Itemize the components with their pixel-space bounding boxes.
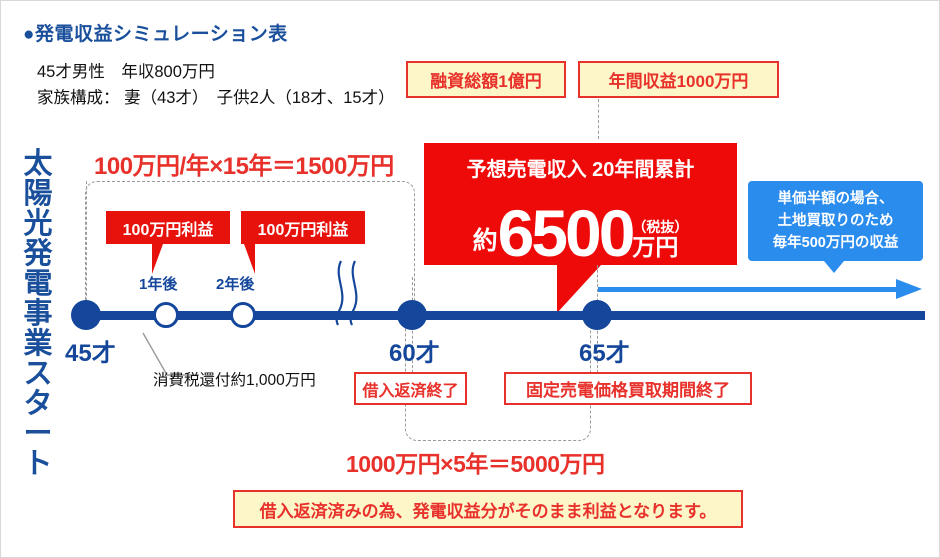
- vertical-char: 光: [15, 209, 61, 239]
- arrow-right-icon: [896, 279, 922, 299]
- revenue-suffix: （税抜） 万円: [632, 220, 688, 261]
- timeline-label-age60: 60才: [389, 333, 440, 368]
- timeline-label-year1: 1年後: [139, 273, 177, 294]
- approx-prefix: 約: [473, 229, 498, 261]
- annual-profit-badge: 年間収益1000万円: [578, 61, 779, 98]
- blue-line-1: 単価半額の場合、: [778, 188, 894, 210]
- timeline-axis: [73, 311, 925, 320]
- profile-line-2: 家族構成： 妻（43才） 子供2人（18才、15才）: [37, 85, 395, 111]
- vertical-char: 業: [15, 329, 61, 359]
- revenue-number: 6500: [498, 205, 633, 261]
- total-revenue-title: 予想売電収入 20年間累計: [424, 153, 737, 182]
- profit-balloon-year1: 100万円利益: [106, 211, 230, 244]
- vertical-char: ト: [15, 449, 61, 479]
- fit-period-end-badge: 固定売電価格買取期間終了: [504, 372, 752, 405]
- drop-line-45: [86, 181, 87, 301]
- profile-info: 45才男性 年収800万円 家族構成： 妻（43才） 子供2人（18才、15才）: [37, 59, 395, 111]
- blue-callout-tail-icon: [824, 261, 844, 273]
- blue-line-3: 毎年500万円の収益: [773, 232, 899, 254]
- vertical-char: 発: [15, 239, 61, 269]
- tax-refund-label: 消費税還付約1,000万円: [153, 368, 316, 390]
- page-title: ●発電収益シミュレーション表: [23, 19, 288, 46]
- loan-total-badge: 融資総額1億円: [406, 61, 566, 98]
- formula-15-years: 100万円/年×15年＝1500万円: [94, 146, 394, 181]
- vertical-start-label: 太 陽 光 発 電 事 業 ス タ ー ト: [15, 149, 61, 479]
- timeline-label-year2: 2年後: [216, 273, 254, 294]
- timeline-label-age65: 65才: [579, 333, 630, 368]
- total-revenue-callout: 予想売電収入 20年間累計 約 6500 （税抜） 万円: [424, 143, 737, 265]
- post-fit-revenue-callout: 単価半額の場合、 土地買取りのため 毎年500万円の収益: [748, 181, 923, 261]
- revenue-unit: 万円: [632, 235, 678, 259]
- total-revenue-amount: 約 6500 （税抜） 万円: [424, 205, 737, 261]
- profile-line-1: 45才男性 年収800万円: [37, 59, 395, 85]
- timeline-node-age65: [582, 300, 612, 330]
- balloon-tail-icon: [152, 244, 163, 274]
- post-fit-arrow-line: [598, 287, 901, 292]
- yellow-box-connector-line: [598, 99, 599, 139]
- loan-repayment-end-badge: 借入返済終了: [354, 372, 467, 405]
- vertical-char: ス: [15, 359, 61, 389]
- tax-note: （税抜）: [632, 220, 688, 235]
- timeline-node-year1: [153, 302, 179, 328]
- timeline-node-age45: [71, 300, 101, 330]
- balloon-tail-icon: [244, 244, 255, 274]
- blue-line-2: 土地買取りのため: [778, 210, 894, 232]
- timeline-break-icon: [329, 259, 371, 327]
- timeline-node-year2: [230, 302, 256, 328]
- simulation-diagram: ●発電収益シミュレーション表 45才男性 年収800万円 家族構成： 妻（43才…: [0, 0, 940, 558]
- vertical-char: 電: [15, 269, 61, 299]
- vertical-char: 事: [15, 299, 61, 329]
- profit-balloon-year2: 100万円利益: [241, 211, 365, 244]
- vertical-char: 太: [15, 149, 61, 179]
- timeline-label-age45: 45才: [65, 333, 116, 368]
- formula-5-years: 1000万円×5年＝5000万円: [346, 445, 605, 479]
- footer-note: 借入返済済みの為、発電収益分がそのまま利益となります。: [233, 490, 743, 528]
- vertical-char: タ: [15, 389, 61, 419]
- vertical-char: ー: [15, 419, 61, 449]
- vertical-char: 陽: [15, 179, 61, 209]
- timeline-node-age60: [397, 300, 427, 330]
